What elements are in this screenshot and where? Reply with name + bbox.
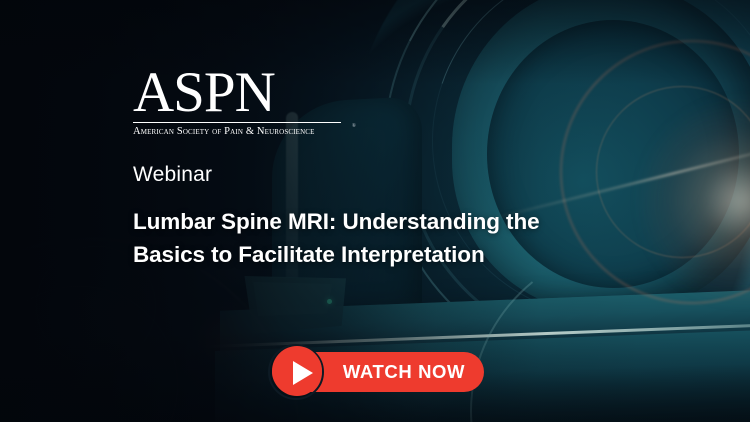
webinar-promo-banner: ASPN American Society of Pain & Neurosci… (0, 0, 750, 422)
aspn-logo-tagline: American Society of Pain & Neuroscience (133, 126, 315, 137)
watch-now-button[interactable]: WATCH NOW (268, 344, 484, 400)
registered-trademark-icon: ® (352, 124, 356, 129)
webinar-title: Lumbar Spine MRI: Understanding the Basi… (133, 205, 603, 271)
content-type-kicker: Webinar (133, 163, 212, 187)
aspn-logo: ASPN American Society of Pain & Neurosci… (133, 66, 348, 137)
play-icon (293, 361, 313, 385)
banner-content: ASPN American Society of Pain & Neurosci… (0, 0, 750, 422)
aspn-logo-tagline-wrapper: American Society of Pain & Neuroscience … (133, 126, 348, 137)
watch-now-button-label: WATCH NOW (330, 352, 478, 392)
play-button-circle (272, 346, 322, 396)
aspn-logo-wordmark: ASPN (133, 66, 348, 120)
